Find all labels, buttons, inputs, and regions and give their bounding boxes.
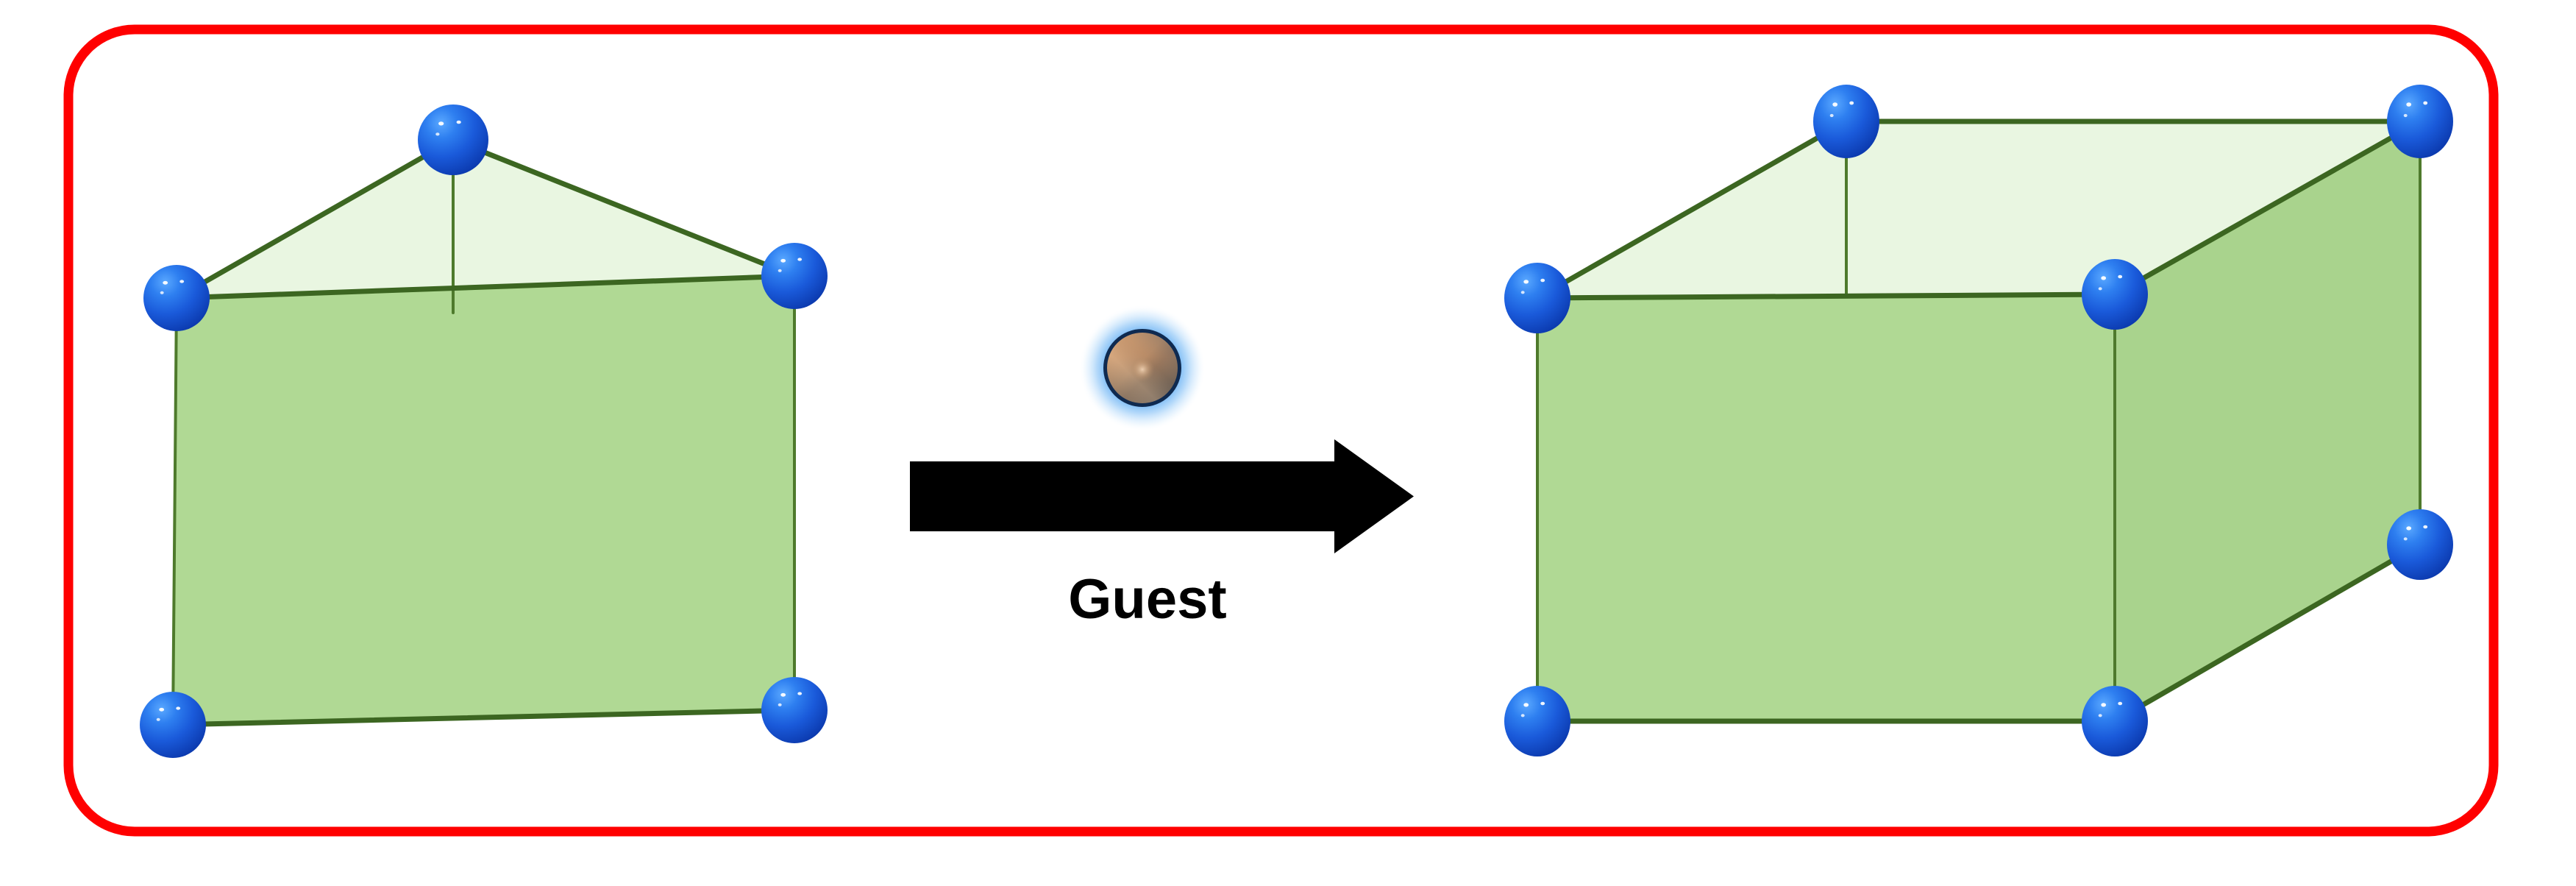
closed-cage-vertex-top-back-left-highlight-a xyxy=(1832,102,1837,107)
open-cage-vertex-top-right xyxy=(761,243,828,309)
closed-cage-vertex-bottom-front-right-body xyxy=(2082,686,2148,756)
closed-cage-vertex-bottom-front-right-highlight-a xyxy=(2101,703,2106,706)
open-cage-vertex-top-left xyxy=(143,265,210,331)
closed-cage-vertex-bottom-back-right-highlight-b xyxy=(2423,525,2427,529)
open-cage-vertex-apex-highlight-c xyxy=(435,132,439,135)
scheme-illustration: Guest xyxy=(0,0,2576,886)
open-cage-vertex-top-right-highlight-b xyxy=(797,258,802,261)
closed-cage-vertex-top-front-left-highlight-c xyxy=(1521,291,1525,294)
open-cage-vertex-bottom-right-highlight-b xyxy=(797,692,802,695)
figure-canvas: Guest xyxy=(0,0,2576,886)
closed-host-guest-cage xyxy=(1504,85,2453,756)
open-cage-vertex-top-right-body xyxy=(761,243,828,309)
closed-cage-vertex-top-back-left xyxy=(1813,85,1879,158)
open-cage-vertex-top-left-body xyxy=(143,265,210,331)
closed-cage-vertex-top-back-right xyxy=(2387,85,2453,158)
open-cage-vertex-top-left-highlight-b xyxy=(179,280,184,283)
open-cage-vertex-bottom-left-body xyxy=(140,692,206,758)
closed-cage-vertex-top-back-right-highlight-b xyxy=(2423,102,2427,105)
open-cage-vertex-bottom-right-highlight-c xyxy=(778,704,782,706)
reaction-arrow xyxy=(910,439,1414,553)
closed-cage-vertex-bottom-front-right xyxy=(2082,686,2148,756)
reaction-arrow-shape xyxy=(910,439,1414,553)
closed-cage-vertex-top-back-left-highlight-b xyxy=(1849,102,1854,105)
closed-cage-vertex-top-back-right-highlight-a xyxy=(2406,102,2411,107)
closed-cage-vertex-bottom-front-left-highlight-a xyxy=(1523,703,1529,706)
closed-cage-vertex-bottom-front-right-highlight-b xyxy=(2118,702,2122,706)
closed-cage-vertex-top-back-right-highlight-c xyxy=(2404,114,2408,117)
open-cage-vertex-bottom-left-highlight-c xyxy=(157,718,160,721)
closed-cage-vertex-top-front-left-highlight-a xyxy=(1523,280,1529,283)
closed-host-guest-cage-faces xyxy=(1537,121,2420,721)
open-cage-vertex-top-left-highlight-a xyxy=(163,281,168,285)
open-cage-front-face xyxy=(173,276,794,725)
closed-cage-vertex-top-front-right-body xyxy=(2082,259,2148,330)
closed-cage-vertex-bottom-front-left-body xyxy=(1504,686,1570,756)
closed-cage-vertex-top-front-right-highlight-c xyxy=(2099,287,2102,290)
closed-cage-vertex-bottom-back-right-highlight-c xyxy=(2404,537,2408,540)
closed-cage-vertex-bottom-back-right-highlight-a xyxy=(2406,526,2411,530)
open-cage-vertex-top-left-highlight-c xyxy=(160,291,164,294)
open-cage-vertex-apex xyxy=(418,104,488,175)
closed-cage-vertex-top-front-left-highlight-b xyxy=(1540,279,1545,283)
closed-cage-vertex-top-back-right-body xyxy=(2387,85,2453,158)
open-cage-vertex-apex-body xyxy=(418,104,488,175)
closed-cage-vertex-top-front-left xyxy=(1504,263,1570,333)
arrow-label-guest: Guest xyxy=(1068,568,1226,631)
closed-cage-vertex-bottom-front-left-highlight-b xyxy=(1540,702,1545,706)
closed-cage-vertex-top-front-right-highlight-a xyxy=(2101,276,2106,280)
closed-cage-vertex-top-front-left-body xyxy=(1504,263,1570,333)
open-cage-vertex-top-right-highlight-a xyxy=(780,259,786,263)
closed-cage-vertex-top-back-left-body xyxy=(1813,85,1879,158)
closed-cage-vertex-bottom-front-left-highlight-c xyxy=(1521,714,1525,717)
open-cage-vertex-apex-highlight-a xyxy=(438,121,444,125)
closed-cage-front-face xyxy=(1537,294,2115,721)
closed-cage-vertex-top-front-right xyxy=(2082,259,2148,330)
open-host-cage-faces xyxy=(173,140,794,725)
closed-cage-vertex-top-back-left-highlight-c xyxy=(1830,114,1834,117)
open-cage-vertex-top-right-highlight-c xyxy=(778,269,782,272)
open-cage-vertex-bottom-right-body xyxy=(761,677,828,743)
open-cage-vertex-bottom-right-highlight-a xyxy=(780,693,786,697)
closed-cage-vertex-bottom-back-right xyxy=(2387,509,2453,580)
closed-cage-edge-top-front xyxy=(1537,294,2115,298)
closed-cage-vertex-bottom-back-right-body xyxy=(2387,509,2453,580)
open-cage-vertex-apex-highlight-b xyxy=(457,121,461,124)
open-host-cage xyxy=(140,104,828,758)
closed-cage-vertex-bottom-front-right-highlight-c xyxy=(2099,714,2102,717)
open-cage-vertex-bottom-left-highlight-a xyxy=(159,708,164,712)
open-cage-vertex-bottom-left xyxy=(140,692,206,758)
closed-cage-vertex-bottom-front-left xyxy=(1504,686,1570,756)
closed-cage-vertex-top-front-right-highlight-b xyxy=(2118,275,2122,279)
open-cage-vertex-bottom-right xyxy=(761,677,828,743)
guest-molecule-sphere xyxy=(1079,305,1206,431)
open-cage-vertex-bottom-left-highlight-b xyxy=(176,706,180,709)
